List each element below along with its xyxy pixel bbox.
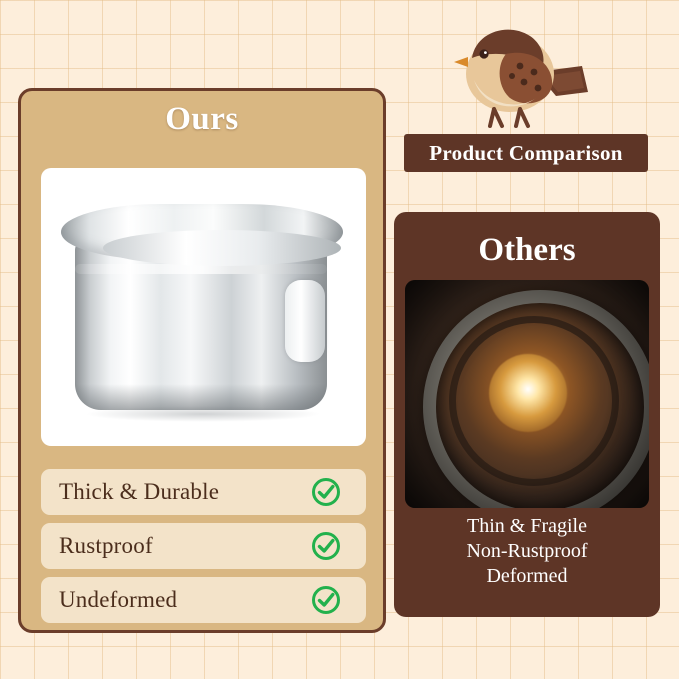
feature-label: Thick & Durable (41, 479, 219, 505)
others-title: Others (394, 232, 660, 269)
check-circle-icon (312, 478, 340, 506)
check-circle-icon (312, 532, 340, 560)
pot-shadow (85, 406, 321, 422)
ours-product-photo (41, 168, 366, 446)
comparison-infographic: Product Comparison Ours Thick & Durable (0, 0, 679, 679)
ours-feature-list: Thick & Durable Rustproof (41, 469, 366, 631)
others-product-photo (405, 280, 649, 508)
pot-handle (285, 280, 325, 362)
list-item: Non-Rustproof (394, 539, 660, 564)
banner-title: Product Comparison (429, 141, 622, 166)
bird-icon (432, 14, 612, 132)
list-item: Thin & Fragile (394, 514, 660, 539)
pot-lid-top (103, 230, 341, 266)
feature-label: Undeformed (41, 587, 177, 613)
pot-lid (61, 204, 343, 260)
feature-label: Rustproof (41, 533, 153, 559)
list-item: Undeformed (41, 577, 366, 623)
rust-vignette (405, 280, 649, 508)
product-comparison-banner: Product Comparison (404, 134, 648, 172)
others-drawback-list: Thin & Fragile Non-Rustproof Deformed (394, 514, 660, 589)
list-item: Deformed (394, 564, 660, 589)
ours-panel: Ours Thick & Durable (18, 88, 386, 633)
others-panel: Others Thin & Fragile Non-Rustproof Defo… (394, 212, 660, 617)
list-item: Rustproof (41, 523, 366, 569)
ours-title: Ours (21, 101, 383, 138)
list-item: Thick & Durable (41, 469, 366, 515)
check-circle-icon (312, 586, 340, 614)
